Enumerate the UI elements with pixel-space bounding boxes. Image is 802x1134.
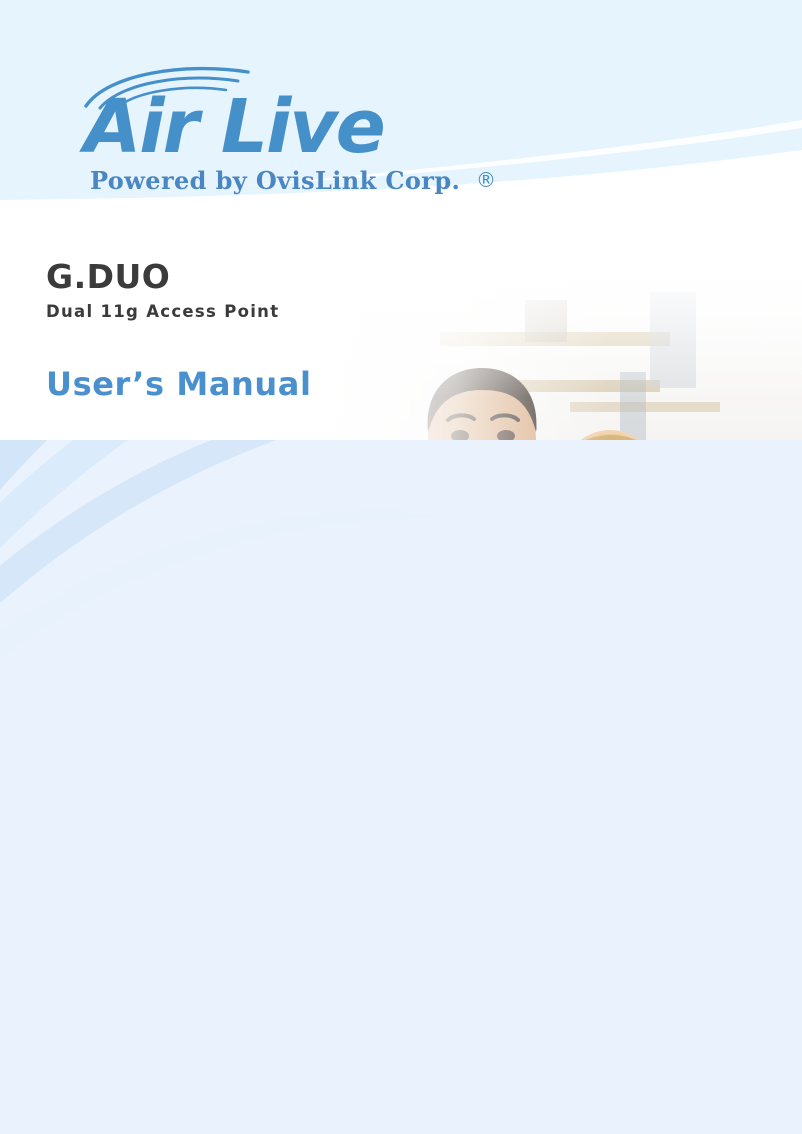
document-cover-page: Air Live ® Powered by OvisLink Corp.	[0, 0, 802, 1134]
document-title: User’s Manual	[46, 366, 466, 403]
cover-title-block: G.DUO Dual 11g Access Point User’s Manua…	[46, 258, 466, 403]
page-subtitle: Dual 11g Access Point	[46, 302, 466, 322]
logo-tagline-text: Powered by OvisLink Corp.	[90, 166, 460, 195]
page-title: G.DUO	[46, 258, 466, 296]
logo-wordmark-text: Air Live	[84, 90, 384, 164]
registered-trademark-icon: ®	[476, 170, 496, 190]
airlive-logo: Air Live ® Powered by OvisLink Corp.	[62, 62, 462, 194]
